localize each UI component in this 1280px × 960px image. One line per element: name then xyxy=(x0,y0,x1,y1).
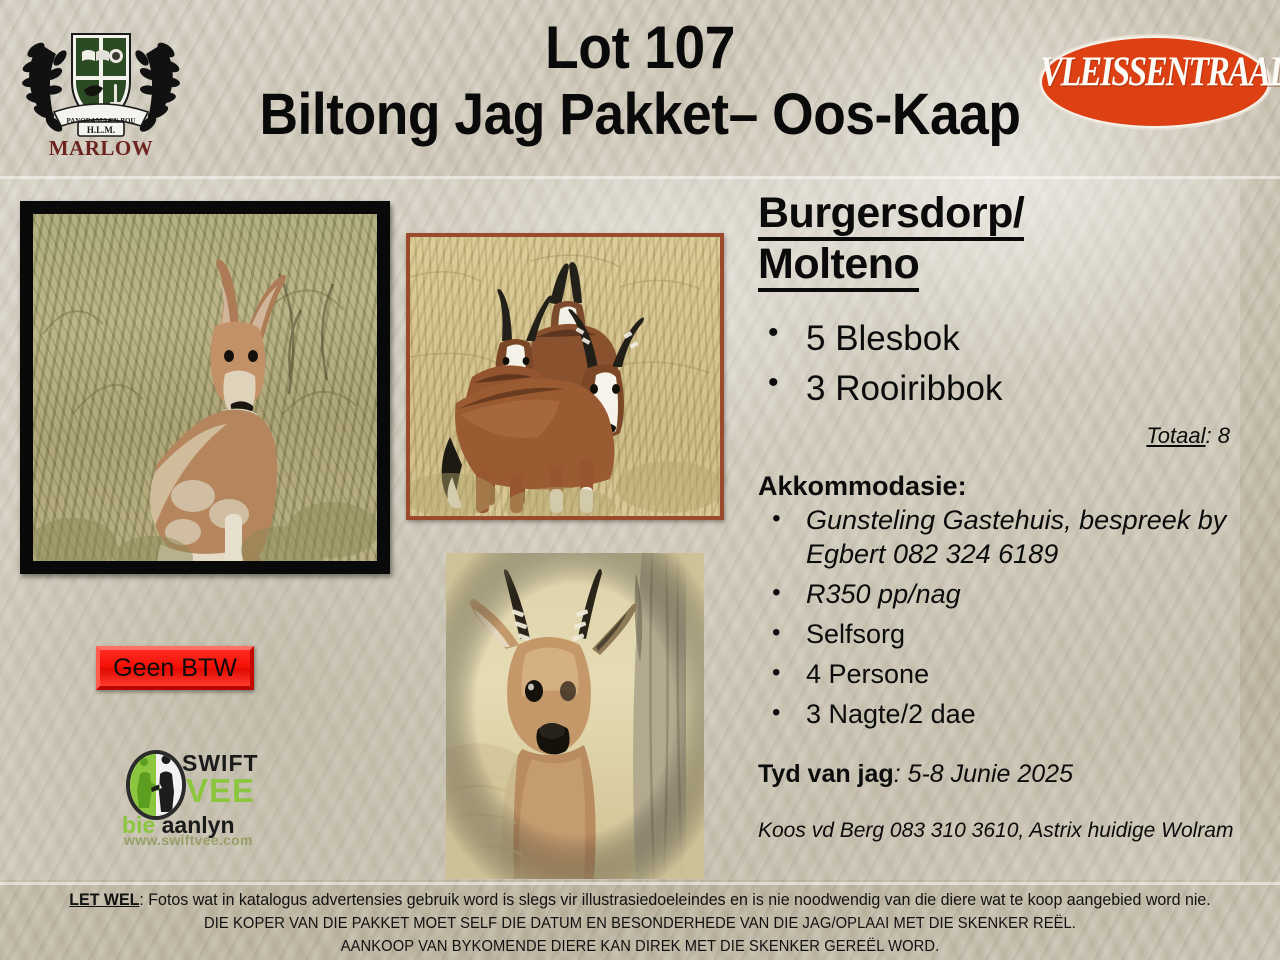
total-animals: Totaal: 8 xyxy=(758,423,1258,449)
auction-lot-poster: PANORAMA EN BOU H.L.M. MARLOW Lot 107 Bi… xyxy=(0,0,1280,960)
footer-line-3: AANKOOP VAN BYKOMENDE DIERE KAN DIREK ME… xyxy=(51,938,1229,956)
footer-note-text: : Fotos wat in katalogus advertensies ge… xyxy=(139,890,1210,909)
list-item: R350 pp/nag xyxy=(758,578,1258,611)
list-item: 5 Blesbok xyxy=(758,314,1258,364)
photo-blesbok-image xyxy=(410,237,720,516)
accommodation-heading: Akkommodasie: xyxy=(758,471,1258,502)
location-heading: Burgersdorp/ Molteno xyxy=(758,190,1258,292)
rooiribbok-ram-illustration xyxy=(446,553,704,879)
photo-rooiribbok-doe-image xyxy=(33,214,377,561)
list-item: 3 Rooiribbok xyxy=(758,364,1258,414)
poster-header: PANORAMA EN BOU H.L.M. MARLOW Lot 107 Bi… xyxy=(0,0,1280,178)
location-line-2: Molteno xyxy=(758,241,919,292)
swiftvee-word-vee: VEE xyxy=(186,772,255,810)
accommodation-list: Gunsteling Gastehuis, bespreek by Egbert… xyxy=(758,504,1258,731)
status-badge-no-vat: Geen BTW xyxy=(96,646,254,690)
hunt-date-label: Tyd van jag xyxy=(758,760,894,788)
swiftvee-url: www.swiftvee.com xyxy=(124,832,253,848)
footer-divider xyxy=(0,882,1280,885)
list-item: Gunsteling Gastehuis, bespreek by Egbert… xyxy=(758,504,1258,570)
list-item: 4 Persone xyxy=(758,658,1258,691)
swiftvee-handshake-icon xyxy=(126,750,186,820)
total-label: Totaal xyxy=(1146,423,1205,448)
blesbok-illustration xyxy=(410,237,720,516)
lot-details: Burgersdorp/ Molteno 5 Blesbok 3 Rooirib… xyxy=(758,190,1258,843)
game-species-list: 5 Blesbok 3 Rooiribbok xyxy=(758,314,1258,413)
marlow-crest-logo: PANORAMA EN BOU H.L.M. MARLOW xyxy=(16,14,186,164)
vleissentraal-logo: VLEISSENTRAAL xyxy=(1040,36,1266,124)
contact-line: Koos vd Berg 083 310 3610, Astrix huidig… xyxy=(758,819,1258,843)
page-title: Lot 107 Biltong Jag Pakket– Oos-Kaap xyxy=(226,14,1054,147)
photo-rooiribbok-doe xyxy=(20,201,390,574)
list-item: Selfsorg xyxy=(758,618,1258,651)
vleissentraal-wordmark: VLEISSENTRAAL xyxy=(1040,49,1266,97)
swiftvee-figures xyxy=(130,754,182,816)
hunt-date: Tyd van jag: 5-8 Junie 2025 xyxy=(758,760,1258,789)
footer-note-label: LET WEL xyxy=(69,890,139,909)
footer-line-2: DIE KOPER VAN DIE PAKKET MOET SELF DIE D… xyxy=(51,915,1229,933)
svg-text:H.L.M.: H.L.M. xyxy=(87,125,115,135)
crest-name-label: MARLOW xyxy=(16,136,186,161)
rooiribbok-doe-illustration xyxy=(33,214,377,561)
footer-note: LET WEL: Fotos wat in katalogus adverten… xyxy=(38,890,1241,910)
list-item: 3 Nagte/2 dae xyxy=(758,698,1258,731)
hunt-date-value: : 5-8 Junie 2025 xyxy=(894,760,1073,788)
photo-blesbok-herd xyxy=(406,233,724,520)
poster-footer: LET WEL: Fotos wat in katalogus adverten… xyxy=(0,886,1280,960)
crest-graphic: PANORAMA EN BOU H.L.M. xyxy=(16,14,186,142)
lot-title: Biltong Jag Pakket– Oos-Kaap xyxy=(226,82,1054,148)
swiftvee-logo: SWIFT VEE bie aanlyn www.swiftvee.com xyxy=(118,748,268,846)
lot-number: Lot 107 xyxy=(226,14,1054,82)
total-value: 8 xyxy=(1218,423,1230,448)
photo-rooiribbok-ram-image xyxy=(446,553,704,879)
photo-rooiribbok-ram xyxy=(446,553,704,879)
location-line-1: Burgersdorp/ xyxy=(758,190,1024,241)
